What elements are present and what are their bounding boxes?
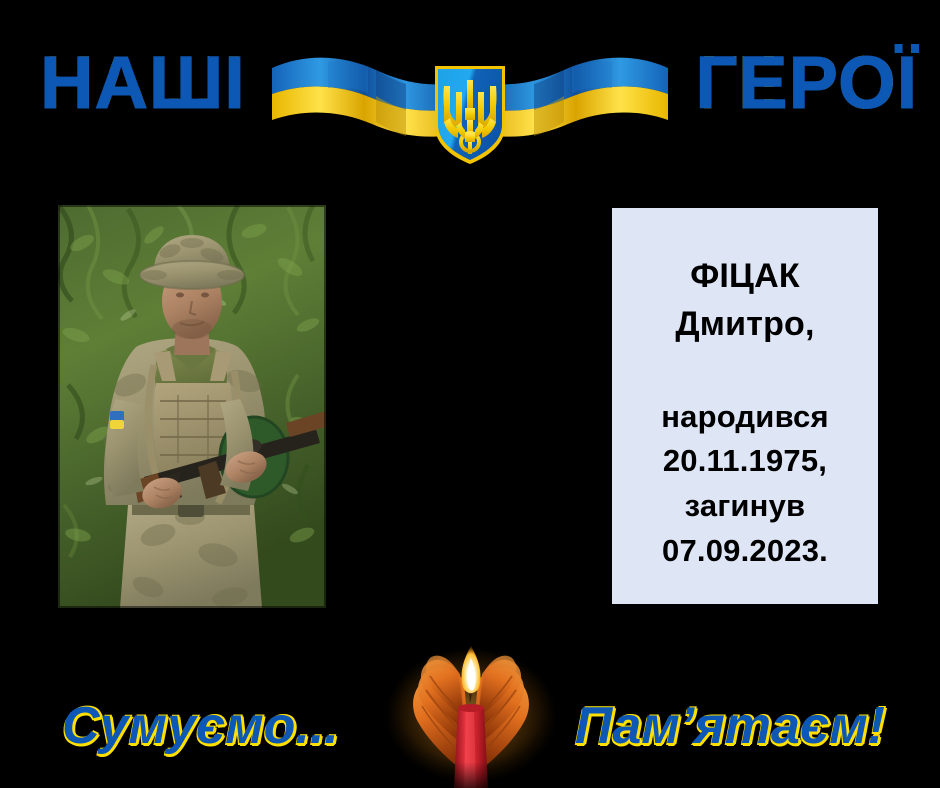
given-name: Дмитро, [675, 300, 814, 348]
died-date: 07.09.2023. [661, 529, 829, 574]
died-label: загинув [661, 484, 829, 529]
life-dates: народився 20.11.1975, загинув 07.09.2023… [661, 395, 829, 575]
memorial-poster: НАШІ НАШІ ГЕРОЇ ГЕРОЇ [0, 0, 940, 788]
title-right: ГЕРОЇ [695, 46, 918, 120]
title-left: НАШІ [40, 46, 246, 120]
born-date: 20.11.1975, [661, 439, 829, 484]
ukraine-emblem-icon [268, 22, 672, 180]
born-label: народився [661, 395, 829, 440]
deceased-name: ФІЦАК Дмитро, [675, 252, 814, 349]
memorial-info-card: ФІЦАК Дмитро, народився 20.11.1975, заги… [612, 208, 878, 604]
soldier-photo [58, 205, 326, 608]
poster-header: НАШІ НАШІ ГЕРОЇ ГЕРОЇ [0, 0, 940, 190]
remembrance-text: Пам’ятаєм! [575, 700, 885, 752]
mourning-text: Сумуємо... [62, 700, 339, 752]
candle-in-hands-icon [378, 642, 564, 788]
surname: ФІЦАК [675, 252, 814, 300]
